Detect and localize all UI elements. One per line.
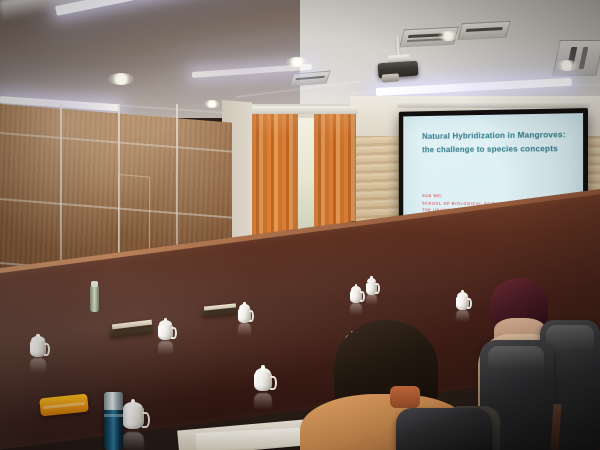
teacup[interactable] [366, 278, 377, 294]
downlight [438, 31, 458, 41]
teacup[interactable] [238, 304, 251, 323]
teacup[interactable] [158, 320, 173, 341]
teacup[interactable] [350, 286, 362, 303]
slide-title: Natural Hybridization in Mangroves: the … [422, 129, 566, 156]
downlight [204, 100, 220, 108]
thermos-band [104, 414, 123, 417]
meeting-room-photo: Natural Hybridization in Mangroves: the … [0, 0, 600, 450]
teacup[interactable] [30, 336, 46, 358]
screen-roller-housing [397, 101, 590, 108]
thermos-cap [104, 392, 123, 410]
projector-lens [382, 73, 400, 82]
downlight [108, 73, 134, 85]
teacup[interactable] [456, 292, 469, 310]
air-vent [552, 40, 600, 76]
downlight [556, 60, 578, 71]
chair[interactable] [396, 408, 492, 450]
teacup[interactable] [254, 368, 272, 393]
water-bottle[interactable] [90, 286, 99, 312]
thermos-flask[interactable] [104, 392, 123, 450]
downlight [286, 57, 308, 67]
teacup[interactable] [122, 402, 144, 432]
curtain-rail [250, 106, 358, 114]
jacket-collar [390, 386, 420, 408]
air-vent [457, 21, 510, 40]
